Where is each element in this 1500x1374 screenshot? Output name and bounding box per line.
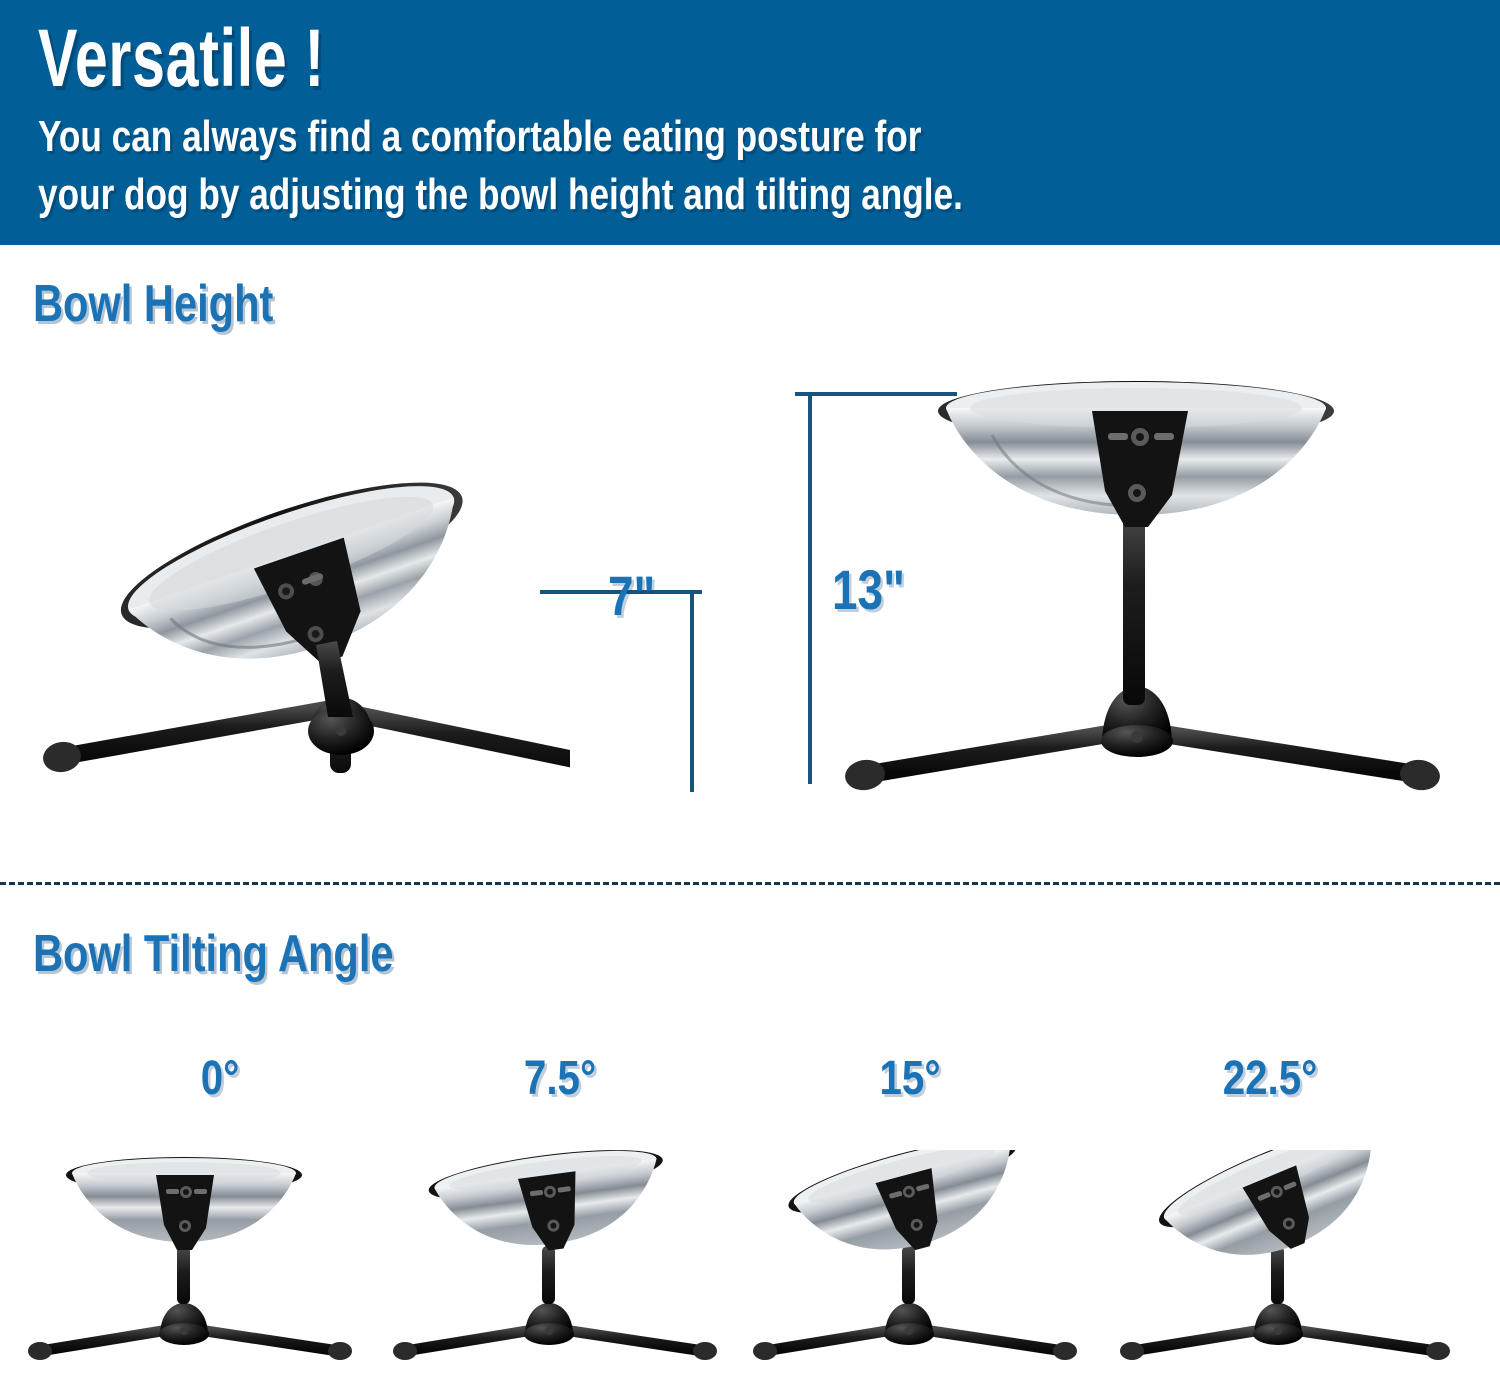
bowl-neck [177,1246,190,1304]
dimension-13in-vertical-line [808,392,812,784]
dimension-label-13in: 13" [832,562,905,618]
bowl-neck [542,1246,555,1304]
product-image-tilt-0-degrees [20,1150,370,1365]
angle-label-0-degrees: 0° [136,1053,304,1105]
ball-joint-hub [159,1303,209,1345]
section-divider [0,882,1500,885]
product-image-tall-stand [820,375,1460,800]
product-image-tilt-22point5-degrees [1110,1150,1470,1365]
banner-subtitle: You can always find a comfortable eating… [38,108,1190,224]
banner-title: Versatile ! [38,14,325,104]
dimension-13in-top-tick [795,392,957,396]
tripod-legs [41,707,570,787]
height-extension-post [1123,505,1145,705]
header-banner: Versatile ! You can always find a comfor… [0,0,1500,245]
product-image-short-stand [10,435,570,805]
ball-joint-hub [524,1303,574,1345]
ball-joint-hub [884,1303,934,1345]
angle-label-22point5-degrees: 22.5° [1169,1053,1371,1105]
product-image-tilt-15-degrees [745,1150,1095,1365]
bowl-neck [902,1246,915,1304]
angle-label-15-degrees: 15° [826,1053,994,1105]
dimension-7in-vertical-line [690,590,694,792]
product-image-tilt-7point5-degrees [385,1150,735,1365]
banner-subtitle-line-2: your dog by adjusting the bowl height an… [38,166,1190,224]
banner-subtitle-line-1: You can always find a comfortable eating… [38,108,1190,166]
dimension-label-7in: 7" [608,568,655,624]
ball-joint-hub [1253,1303,1303,1345]
section-heading-bowl-tilting-angle: Bowl Tilting Angle [33,925,394,983]
section-heading-bowl-height: Bowl Height [33,275,273,333]
bowl-neck [1271,1246,1284,1304]
angle-label-7point5-degrees: 7.5° [468,1053,653,1105]
